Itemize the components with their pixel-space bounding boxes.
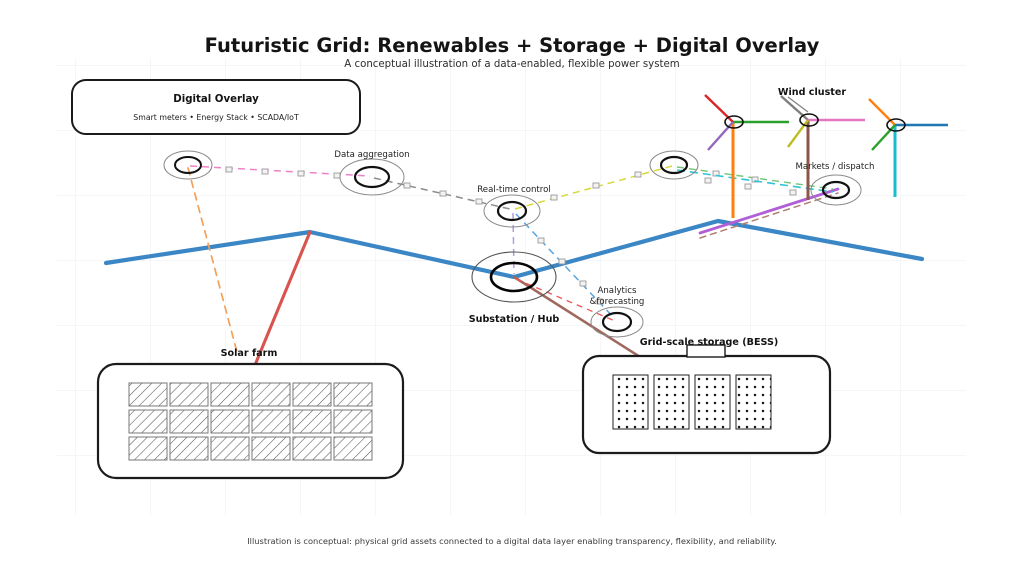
data-aggregation-label: Data aggregation [334, 150, 409, 160]
overlay-box-frame [72, 80, 360, 134]
bess-unit [654, 375, 689, 429]
page-subtitle: A conceptual illustration of a data-enab… [344, 59, 679, 70]
page-title: Futuristic Grid: Renewables + Storage + … [205, 34, 820, 57]
bess-unit [613, 375, 648, 429]
overlay-box-subtitle: Smart meters • Energy Stack • SCADA/IoT [133, 113, 299, 122]
analytics-label-line2: &forecasting [590, 297, 645, 307]
footer-note: Illustration is conceptual: physical gri… [247, 536, 777, 546]
analytics-label-line1: Analytics [597, 286, 637, 296]
wind-cluster-label: Wind cluster [778, 87, 847, 98]
bess-unit [736, 375, 771, 429]
substation-hub-label: Substation / Hub [469, 314, 560, 325]
digital-overlay-box[interactable]: Digital Overlay Smart meters • Energy St… [72, 80, 360, 134]
diagram-canvas: Futuristic Grid: Renewables + Storage + … [0, 0, 1024, 581]
bess-unit [695, 375, 730, 429]
bess-terminal [687, 345, 725, 357]
grid-diagram-svg: Futuristic Grid: Renewables + Storage + … [0, 0, 1024, 581]
overlay-box-title: Digital Overlay [173, 94, 259, 105]
solar-farm-label: Solar farm [221, 348, 278, 359]
real-time-control-label: Real-time control [477, 185, 551, 195]
markets-dispatch-label: Markets / dispatch [796, 162, 875, 172]
solar-farm[interactable]: Solar farm [98, 348, 403, 478]
